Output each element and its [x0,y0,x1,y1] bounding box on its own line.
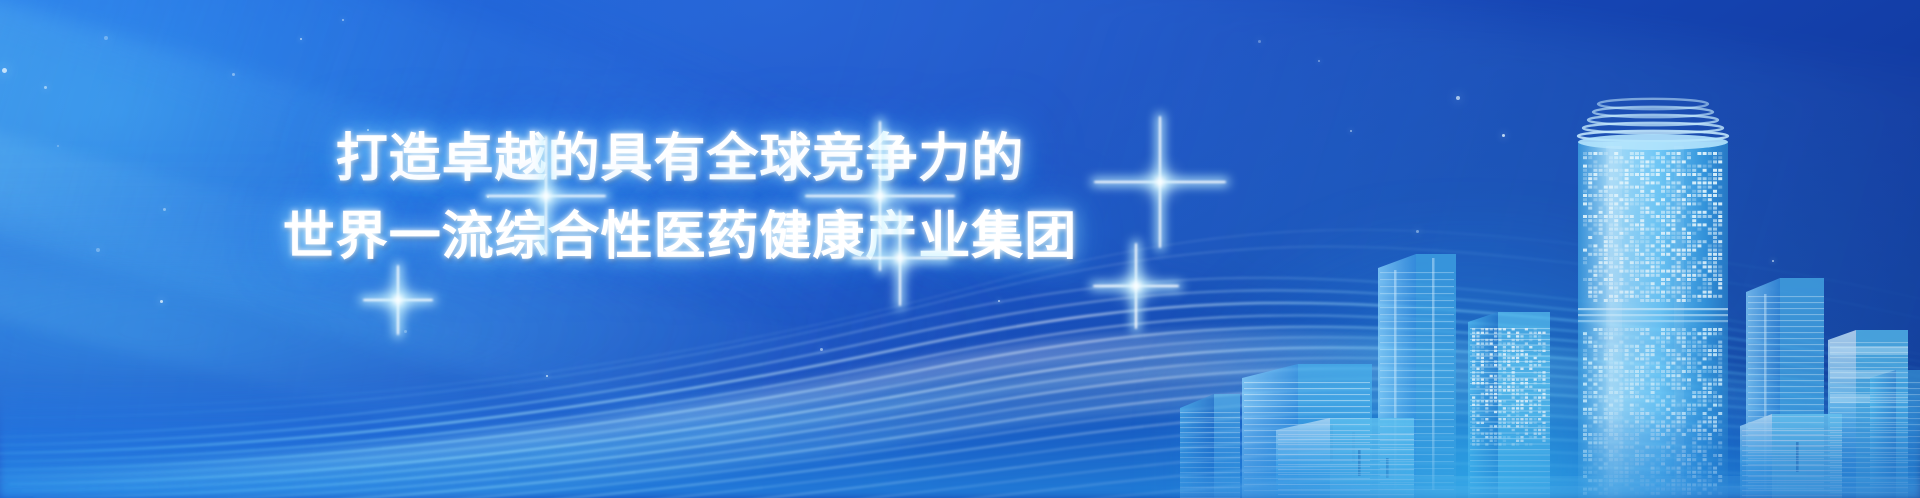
window-pixel [1703,336,1707,339]
window-pixel [1687,471,1691,474]
window-pixel [1609,232,1613,235]
window-pixel [1614,362,1618,365]
window-pixel [1485,443,1488,445]
window-pixel [1503,342,1506,344]
window-pixel [1718,433,1722,436]
window-pixel [1593,353,1597,356]
window-band [1748,296,1824,297]
window-pixel [1697,391,1701,394]
window-pixel [1588,412,1592,415]
window-pixel [1498,400,1501,402]
window-pixel [1614,253,1618,256]
window-pixel [1718,462,1722,465]
window-pixel [1494,382,1497,384]
window-pixel [1697,261,1701,264]
window-pixel [1671,374,1675,377]
window-band [1748,476,1824,477]
window-pixel [1703,223,1707,226]
window-pixel [1538,378,1541,380]
window-pixel [1476,378,1479,380]
window-pixel [1614,177,1618,180]
window-band [1380,398,1454,399]
window-pixel [1512,393,1515,395]
window-pixel [1635,328,1639,331]
window-pixel [1682,492,1686,495]
window-band [1870,466,1920,467]
window-pixel [1583,336,1587,339]
window-pixel [1481,393,1484,395]
window-pixel [1494,375,1497,377]
window-pixel [1599,479,1603,482]
window-pixel [1485,393,1488,395]
window-pixel [1677,160,1681,163]
window-band [1830,437,1908,438]
window-pixel [1593,471,1597,474]
window-pixel [1481,346,1484,348]
window-pixel [1472,436,1475,438]
window-pixel [1630,265,1634,268]
window-band [1244,478,1370,479]
window-pixel [1671,156,1675,159]
window-pixel [1640,261,1644,264]
window-pixel [1697,471,1701,474]
window-pixel [1703,404,1707,407]
window-pixel [1494,350,1497,352]
window-pixel [1682,236,1686,239]
window-pixel [1718,395,1722,398]
window-pixel [1661,328,1665,331]
window-pixel [1619,408,1623,411]
window-pixel [1593,278,1597,281]
window-pixel [1697,420,1701,423]
window-pixel [1687,165,1691,168]
window-pixel [1525,425,1528,427]
window-pixel [1697,211,1701,214]
window-pixel [1703,274,1707,277]
window-pixel [1498,360,1501,362]
window-pixel [1472,404,1475,406]
window-pixel [1640,156,1644,159]
window-pixel [1697,228,1701,231]
window-pixel [1516,353,1519,355]
window-pixel [1677,341,1681,344]
window-pixel [1599,446,1603,449]
window-pixel [1677,332,1681,335]
window-pixel [1708,265,1712,268]
window-pixel [1604,249,1608,252]
window-pixel [1666,441,1670,444]
window-pixel [1651,173,1655,176]
window-pixel [1490,425,1493,427]
window-band [1380,384,1454,385]
window-pixel [1599,282,1603,285]
window-pixel [1713,190,1717,193]
window-pixel [1604,190,1608,193]
window-pixel [1677,152,1681,155]
window-band [1380,433,1454,434]
window-pixel [1671,332,1675,335]
window-pixel [1614,156,1618,159]
window-pixel [1708,207,1712,210]
window-band [1380,321,1454,322]
window-pixel [1671,190,1675,193]
window-pixel [1609,257,1613,260]
window-pixel [1682,274,1686,277]
window-pixel [1687,211,1691,214]
window-pixel [1516,411,1519,413]
window-pixel [1661,270,1665,273]
window-pixel [1677,471,1681,474]
window-pixel [1520,346,1523,348]
window-pixel [1635,278,1639,281]
window-pixel [1718,353,1722,356]
window-pixel [1645,207,1649,210]
window-pixel [1630,467,1634,470]
window-pixel [1534,396,1537,398]
window-pixel [1687,467,1691,470]
window-pixel [1677,165,1681,168]
window-pixel [1520,436,1523,438]
window-pixel [1718,211,1722,214]
window-pixel [1625,160,1629,163]
window-pixel [1708,479,1712,482]
window-pixel [1512,389,1515,391]
window-pixel [1583,425,1587,428]
window-pixel [1599,425,1603,428]
window-pixel [1666,408,1670,411]
window-pixel [1516,425,1519,427]
window-pixel [1490,440,1493,442]
window-pixel [1697,186,1701,189]
window-pixel [1583,257,1587,260]
window-band [1748,416,1824,417]
window-pixel [1671,181,1675,184]
window-pixel [1630,186,1634,189]
window-pixel [1651,257,1655,260]
window-pixel [1635,492,1639,495]
window-pixel [1542,411,1545,413]
window-pixel [1630,169,1634,172]
window-pixel [1640,341,1644,344]
window-band [1742,430,1842,431]
window-pixel [1656,336,1660,339]
window-pixel [1692,261,1696,264]
window-band [1830,357,1908,358]
window-pixel [1640,366,1644,369]
window-pixel [1604,395,1608,398]
window-pixel [1713,378,1717,381]
window-pixel [1671,223,1675,226]
window-pixel [1516,404,1519,406]
window-pixel [1542,422,1545,424]
window-pixel [1656,429,1660,432]
window-band [1470,493,1550,494]
window-pixel [1703,190,1707,193]
window-band [1380,461,1454,462]
window-pixel [1671,399,1675,402]
window-pixel [1583,374,1587,377]
window-pixel [1481,432,1484,434]
window-pixel [1588,186,1592,189]
window-band [1380,328,1454,329]
window-pixel [1697,353,1701,356]
window-pixel [1692,332,1696,335]
window-pixel [1588,278,1592,281]
window-pixel [1718,429,1722,432]
window-pixel [1476,342,1479,344]
window-pixel [1542,393,1545,395]
window-pixel [1494,436,1497,438]
window-pixel [1614,391,1618,394]
window-pixel [1481,382,1484,384]
window-pixel [1593,374,1597,377]
window-pixel [1609,429,1613,432]
window-pixel [1498,443,1501,445]
window-pixel [1697,194,1701,197]
window-pixel [1614,265,1618,268]
window-pixel [1703,391,1707,394]
window-pixel [1687,488,1691,491]
window-pixel [1692,446,1696,449]
window-pixel [1656,219,1660,222]
window-pixel [1713,156,1717,159]
window-pixel [1503,360,1506,362]
window-pixel [1507,335,1510,337]
window-pixel [1708,261,1712,264]
window-pixel [1542,396,1545,398]
window-band [1742,475,1842,476]
window-pixel [1512,404,1515,406]
window-pixel [1507,407,1510,409]
window-pixel [1619,332,1623,335]
window-pixel [1516,378,1519,380]
window-pixel [1708,395,1712,398]
window-pixel [1534,418,1537,420]
window-pixel [1703,370,1707,373]
window-pixel [1718,249,1722,252]
window-band [1748,482,1824,483]
window-pixel [1666,219,1670,222]
window-pixel [1661,202,1665,205]
window-band [1380,405,1454,406]
window-pixel [1708,177,1712,180]
window-band [1830,487,1908,488]
window-pixel [1708,441,1712,444]
window-pixel [1635,462,1639,465]
window-pixel [1682,357,1686,360]
window-pixel [1640,173,1644,176]
window-pixel [1656,383,1660,386]
window-pixel [1718,345,1722,348]
window-pixel [1516,443,1519,445]
window-pixel [1640,450,1644,453]
window-pixel [1538,429,1541,431]
window-pixel [1525,353,1528,355]
window-pixel [1604,441,1608,444]
window-pixel [1713,177,1717,180]
window-pixel [1671,152,1675,155]
window-pixel [1708,433,1712,436]
window-pixel [1588,215,1592,218]
window-band [1470,460,1550,461]
window-pixel [1630,156,1634,159]
window-pixel [1520,425,1523,427]
tower-cap [1578,134,1728,150]
window-pixel [1635,336,1639,339]
window-pixel [1529,360,1532,362]
window-pixel [1682,160,1686,163]
window-band [1742,440,1842,441]
window-pixel [1708,257,1712,260]
window-pixel [1635,165,1639,168]
window-pixel [1630,219,1634,222]
window-pixel [1677,236,1681,239]
window-pixel [1661,374,1665,377]
window-pixel [1671,160,1675,163]
window-pixel [1625,190,1629,193]
window-pixel [1651,454,1655,457]
window-pixel [1671,328,1675,331]
window-pixel [1635,349,1639,352]
window-pixel [1708,249,1712,252]
window-pixel [1588,253,1592,256]
window-pixel [1651,228,1655,231]
window-band [1830,402,1908,403]
window-pixel [1687,383,1691,386]
window-pixel [1588,345,1592,348]
window-pixel [1529,386,1532,388]
window-pixel [1507,378,1510,380]
window-pixel [1604,492,1608,495]
window-pixel [1708,483,1712,486]
window-band [1180,442,1240,443]
window-pixel [1697,173,1701,176]
window-pixel [1651,391,1655,394]
window-pixel [1630,261,1634,264]
window-pixel [1538,339,1541,341]
window-pixel [1718,215,1722,218]
window-pixel [1588,219,1592,222]
window-pixel [1682,169,1686,172]
window-pixel [1687,366,1691,369]
window-pixel [1687,483,1691,486]
window-pixel [1494,396,1497,398]
window-pixel [1708,462,1712,465]
window-pixel [1651,399,1655,402]
window-pixel [1609,450,1613,453]
window-pixel [1609,349,1613,352]
window-pixel [1671,194,1675,197]
window-pixel [1677,261,1681,264]
window-pixel [1614,228,1618,231]
window-pixel [1614,458,1618,461]
window-band [1748,368,1824,369]
window-pixel [1666,349,1670,352]
window-pixel [1538,375,1541,377]
window-pixel [1682,249,1686,252]
window-pixel [1677,190,1681,193]
window-pixel [1472,371,1475,373]
window-pixel [1619,169,1623,172]
window-pixel [1635,441,1639,444]
window-pixel [1476,386,1479,388]
window-pixel [1614,282,1618,285]
window-pixel [1692,328,1696,331]
window-pixel [1542,346,1545,348]
window-pixel [1609,295,1613,298]
window-pixel [1593,416,1597,419]
window-band [1180,452,1240,453]
window-pixel [1692,165,1696,168]
window-pixel [1661,291,1665,294]
window-pixel [1671,219,1675,222]
window-pixel [1635,383,1639,386]
window-pixel [1713,194,1717,197]
window-pixel [1661,198,1665,201]
window-band [1748,356,1824,357]
window-pixel [1687,186,1691,189]
window-pixel [1625,295,1629,298]
window-band [1244,430,1370,431]
window-pixel [1713,391,1717,394]
window-pixel [1630,458,1634,461]
window-pixel [1687,249,1691,252]
window-pixel [1619,282,1623,285]
window-pixel [1512,378,1515,380]
window-pixel [1604,357,1608,360]
window-pixel [1635,295,1639,298]
window-pixel [1635,270,1639,273]
window-pixel [1593,366,1597,369]
window-pixel [1604,416,1608,419]
window-pixel [1640,479,1644,482]
window-pixel [1682,454,1686,457]
window-pixel [1697,479,1701,482]
window-pixel [1529,364,1532,366]
window-pixel [1645,483,1649,486]
window-pixel [1583,399,1587,402]
window-pixel [1503,386,1506,388]
window-pixel [1687,223,1691,226]
window-pixel [1614,462,1618,465]
window-pixel [1671,479,1675,482]
window-pixel [1692,475,1696,478]
window-pixel [1494,425,1497,427]
window-pixel [1666,286,1670,289]
window-pixel [1682,378,1686,381]
window-band [1748,308,1824,309]
window-pixel [1625,467,1629,470]
window-pixel [1588,295,1592,298]
window-pixel [1635,286,1639,289]
window-pixel [1619,458,1623,461]
window-band [1180,437,1240,438]
window-pixel [1494,346,1497,348]
window-pixel [1476,353,1479,355]
window-pixel [1520,422,1523,424]
window-pixel [1619,257,1623,260]
window-pixel [1534,328,1537,330]
window-pixel [1593,291,1597,294]
window-pixel [1692,223,1696,226]
window-pixel [1599,228,1603,231]
window-pixel [1599,437,1603,440]
window-pixel [1697,378,1701,381]
window-pixel [1692,194,1696,197]
window-pixel [1635,345,1639,348]
window-band [1830,392,1908,393]
window-band [1180,462,1240,463]
